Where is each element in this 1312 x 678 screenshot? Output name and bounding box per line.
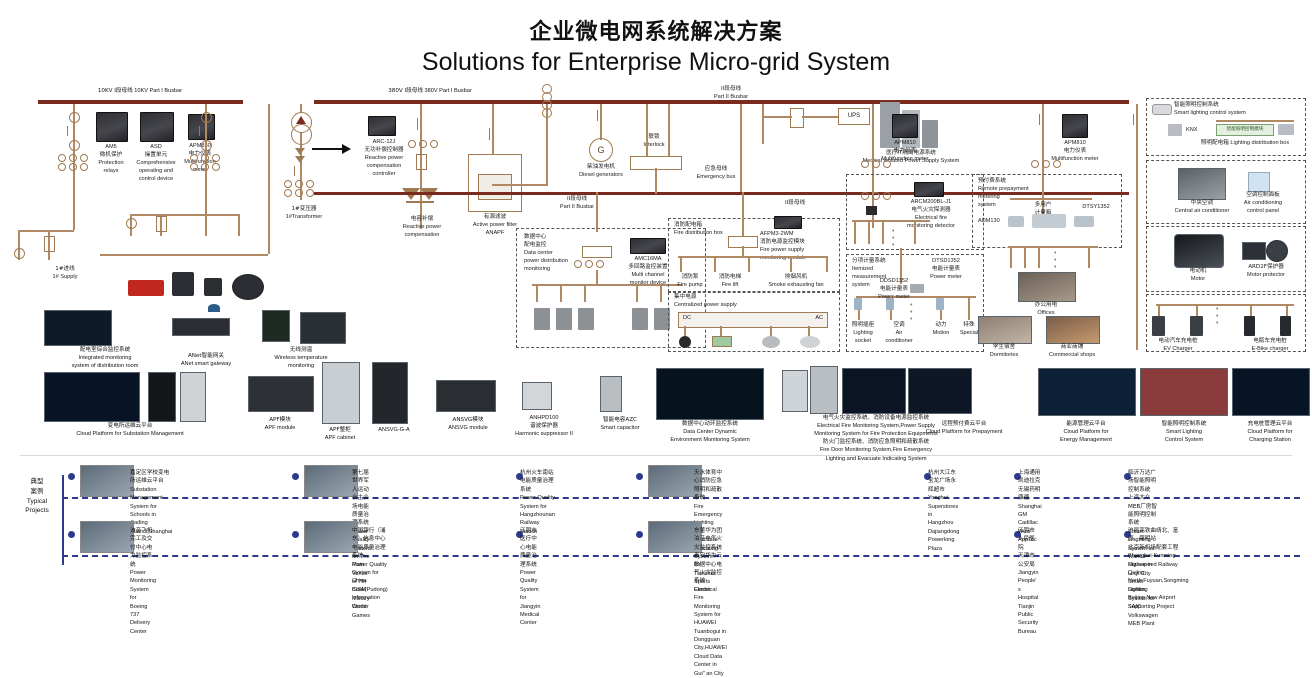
project-name-cn: 北京新机场配套工程	[1128, 544, 1189, 552]
device-apm810-right: APM810 电力仪表 Multifunction meter	[1050, 114, 1100, 164]
breaker-symbol	[1039, 114, 1049, 125]
ct-sensor-photo	[172, 272, 194, 296]
project-name-cn: 中国银行（浦东）信息中心电能质量治理系统	[352, 527, 388, 561]
dtsy1352-label: DTSY1352	[1076, 204, 1116, 212]
hv-leg	[205, 214, 207, 236]
wireless-sensor-photo	[204, 278, 222, 296]
part2-busbar-label-c: II段母线	[770, 200, 820, 208]
timeline-stem	[62, 475, 64, 565]
product-photo-prepay-screen	[908, 368, 972, 414]
project-name-en: Shanghai GM Cadillac	[1018, 503, 1042, 528]
project-name-en: Electrical Fire Monitoring System for HU…	[694, 586, 727, 636]
ac-panel-label: 空调控制面板 Air conditioningcontrol panel	[1236, 192, 1290, 216]
project-name-en: Powerlong Plaza	[928, 536, 959, 553]
project-thumbnail	[304, 521, 358, 553]
timeline-row-2	[62, 555, 1300, 557]
project-text: 东莞华为团泊洼电气火灾监控系统贵安华为云数据中心电气火灾监控系统Electric…	[694, 527, 727, 678]
project-thumbnail	[80, 521, 134, 553]
lighting-control-module: 智能照明控制模块	[1216, 124, 1274, 136]
project-text: 江阴市医疗中心电能质量治理系统Power Quality System forJ…	[520, 527, 541, 628]
project-name-en: Tianjin Public Security Bureau	[1018, 603, 1039, 637]
lighting-box-label: 照明配电箱 Lighting distribution box	[1190, 140, 1300, 148]
breaker-symbol	[489, 128, 499, 140]
project-text: 江阴市人民医院天津市公安局Jiangyin People' s Hospital…	[1018, 527, 1039, 636]
project-name-cn: 天水体育中心消防应急照明和疏散系统	[694, 469, 722, 503]
page-title: 企业微电网系统解决方案 Solutions for Enterprise Mic…	[0, 14, 1312, 77]
product-photo-smart-lighting	[1140, 368, 1228, 416]
breaker-symbol	[597, 110, 607, 121]
project-name-en: Beijing New Airport Supporting Project	[1128, 594, 1189, 611]
timeline-dot	[68, 473, 75, 480]
project-name-cn: 第七届世界军人运动会主会场电能质量治理系统	[352, 469, 371, 528]
timeline-dot	[636, 473, 643, 480]
product-photo-ansvg-cabinet	[372, 362, 408, 424]
ct-symbol	[69, 112, 80, 123]
ups-wire	[802, 116, 838, 118]
interlock-wire-left	[646, 104, 648, 156]
product-photo-harmonic-suppressor	[522, 382, 552, 410]
project-name-en: Jiangyin People' s Hospital	[1018, 569, 1039, 603]
lv-busbar-label: 380V I段母线 380V Part I Busbar	[330, 88, 530, 96]
generator-symbol: G	[589, 138, 613, 162]
project-name-en: Substation Management System for	[130, 486, 172, 511]
product-caption-12: 远程预付费云平台 Cloud Platform for Prepayment	[898, 420, 1030, 436]
ct-symbol	[201, 140, 212, 151]
lighting-gateway-icon	[1278, 124, 1294, 135]
section-divider	[20, 455, 1292, 456]
hv-leg	[238, 214, 240, 236]
part2-busbar-label-a: II段母线Part II Busbar	[700, 86, 762, 102]
ct-symbol	[201, 112, 212, 123]
part2-wire	[762, 116, 792, 118]
product-strip: 配电室综合监控系统 Integrated monitoring system o…	[0, 300, 1312, 455]
project-name-en: Shanghai-Kunming High-speed Railway Quji…	[1128, 552, 1189, 577]
project-name-cn: 上海通用凯迪拉克	[1018, 469, 1042, 486]
supply-label: 1#进线1# Supply	[30, 266, 100, 282]
product-caption-13: 能源管理云平台 Cloud Platform for Energy Manage…	[1034, 420, 1138, 444]
motor-protector-label: ARD2F保护器Motor protector	[1234, 264, 1298, 280]
project-name-en: Yonghui Superstores in	[928, 494, 959, 519]
breaker-symbol	[869, 114, 879, 125]
central-ac-photo	[1178, 168, 1226, 200]
detector-symbol	[866, 206, 877, 215]
pt-symbol	[14, 248, 25, 259]
interlock-wire-right	[668, 104, 670, 156]
product-photo-smart-capacitor	[600, 376, 622, 412]
timeline-dot	[292, 531, 299, 538]
product-photo-temp-display	[300, 312, 346, 344]
offices-photo	[1018, 272, 1076, 302]
part2-switch	[790, 108, 804, 128]
hv-tie-wire-h	[100, 254, 268, 256]
hv-busbar-label: 10KV I段母线 10KV Part I Busbar	[40, 88, 240, 96]
apf-inverter	[478, 174, 512, 200]
project-text: 波音飞机完工及交付中心电力监控系统Power Monitoring System…	[130, 527, 156, 636]
knx-module-icon	[1168, 124, 1182, 136]
title-english: Solutions for Enterprise Micro-grid Syst…	[0, 48, 1312, 77]
product-photo-temp-sensor	[262, 310, 290, 342]
project-name-cn: 江阴市医疗中心电能质量治理系统	[520, 527, 541, 569]
project-name-en: Dongguan City,HUAWEI Cloud Data Center i…	[694, 636, 727, 678]
project-name-cn: 东莞华为团泊洼电气火灾监控系统	[694, 527, 727, 552]
fire-load-lift: 消防电梯Fire lift	[710, 274, 750, 290]
fuse-symbol	[156, 216, 167, 232]
product-photo-fire-screen	[842, 368, 906, 414]
datacenter-switch	[582, 246, 612, 258]
project-name-cn: 杭州火车南站电能质量治理系统	[520, 469, 555, 494]
project-name-cn: 沪昆高铁曲靖北、富源、嵩明站	[1128, 527, 1189, 544]
project-name-cn: 贵安华为云数据中心电气火灾监控系统	[694, 552, 727, 586]
product-photo-cloud-substation	[44, 372, 140, 422]
project-name-cn: 嘉定区学校变电所运维云平台	[130, 469, 172, 486]
adm130-label: ADM130	[978, 218, 1008, 226]
project-thumbnail	[80, 465, 134, 497]
device-asd: ASD 操置单元 Comprehensive operating andcont…	[140, 112, 178, 184]
ct-ring-sensor-photo	[232, 274, 264, 300]
emergency-bus-label: 应急母线Emergency bus	[686, 166, 746, 182]
typical-projects-label: 典型 案例 Typical Projects	[14, 477, 60, 516]
device-arc12j: ARC-12J 无功补偿控制器 Reactive power compensat…	[360, 116, 408, 179]
project-name-en: Jiangyin Medical Center	[520, 603, 541, 628]
project-text: 中国银行（浦东）信息中心电能质量治理系统Power Quality System…	[352, 527, 388, 611]
project-name-cn: 无锡药明康德	[1018, 486, 1042, 503]
product-photo-fire-host-b	[810, 366, 838, 414]
product-photo-apf-cabinet	[322, 362, 360, 424]
timeline-dot	[636, 531, 643, 538]
device-ddsd1352-label: DDSD1352 电能计量表Power meter	[866, 278, 922, 302]
prepay-bus	[1010, 198, 1092, 200]
project-name-en: Power Quality System for	[520, 494, 555, 511]
lighting-bus	[1216, 120, 1294, 122]
efm-bus	[852, 220, 930, 222]
hv-bus-2	[130, 214, 240, 216]
fuse-symbol	[416, 154, 427, 170]
fire-riser	[742, 192, 744, 236]
timeline-dot	[292, 473, 299, 480]
project-name-cn: 江阴市人民医院	[1018, 527, 1039, 552]
project-text: 沪昆高铁曲靖北、富源、嵩明站北京新机场配套工程Shanghai-Kunming …	[1128, 527, 1189, 611]
product-caption-14: 智能照明控制系统 Smart Lighting Control System	[1138, 420, 1230, 444]
ac-panel-photo	[1248, 172, 1270, 192]
product-photo-ansvg-module	[436, 380, 496, 412]
project-name-en: Power Quality System for	[352, 561, 388, 578]
motor-protector-photo	[1242, 242, 1266, 260]
smart-lighting-label: 智能照明控制系统Smart lighting control system	[1174, 102, 1294, 118]
medical-riser	[762, 104, 764, 144]
transformer-label: 1#变压器1#Transformer	[268, 206, 340, 222]
reactive-compensation-label: 电容补偿 Reactive powercompensation	[386, 216, 458, 240]
project-name-en: Power Quality System for	[520, 569, 541, 603]
product-photo-fire-host-a	[782, 370, 808, 412]
fire-bus	[678, 256, 828, 258]
part2-busbar-label-b: II段母线Part II Busbar	[548, 196, 606, 212]
switch-symbol	[294, 166, 307, 176]
motor-label: 电动机Motor	[1174, 268, 1222, 284]
switch-symbol	[199, 126, 212, 136]
product-caption-7: ANSVG模块 ANSVG module	[430, 416, 506, 432]
ups-box: UPS	[838, 108, 870, 125]
title-chinese: 企业微电网系统解决方案	[0, 14, 1312, 46]
product-photo-apf-module	[248, 376, 314, 412]
central-ac-label: 中央空调Central air conditioner	[1166, 200, 1238, 216]
product-caption-3: 变电所运维云平台 Cloud Platform for Substation M…	[34, 422, 226, 438]
product-photo-anet-gateway	[172, 318, 230, 336]
delta-symbol	[296, 116, 306, 124]
diesel-generator-label: 柴油发电机Diesel generators	[568, 164, 634, 180]
device-apm810-left: APM810 电力仪表 Multifunction meter	[880, 114, 930, 164]
emergency-drop	[655, 168, 657, 194]
ct-symbol	[69, 140, 80, 151]
lighting-controller-icon	[1152, 104, 1172, 115]
product-caption-10: 数据中心动环监控系统 Data Center Dynamic Environme…	[646, 420, 774, 444]
typical-projects-section: 典型 案例 Typical Projects 嘉定区学校变电所运维云平台Subs…	[0, 455, 1312, 584]
datacenter-drop	[596, 270, 598, 284]
product-caption-8: ANHPD100 谐波保护器 Harmonic suppressor II	[500, 414, 588, 438]
product-photo-cabinet-a	[148, 372, 176, 422]
knx-label: KNX	[1186, 127, 1206, 135]
product-caption-15: 充电桩管理云平台 Cloud Platform for Charging Sta…	[1228, 420, 1312, 444]
project-name-cn: 天津市公安局	[1018, 552, 1039, 569]
breaker-symbol	[417, 118, 427, 130]
product-photo-distribution-room	[44, 310, 112, 346]
product-photo-energy-cloud	[1038, 368, 1136, 416]
device-dtsd1352: DTSD1352 电能计量表Power meter	[918, 258, 974, 282]
timeline-dot	[68, 531, 75, 538]
timeline-row-1	[62, 497, 1300, 499]
fire-box-label: 消防配电箱Fire distribution box	[674, 222, 736, 238]
interlock-label: 联锁Interlock	[630, 134, 678, 150]
hv-tie-wire	[268, 104, 270, 254]
fire-load-smoke: 排烟风机Smoke exhausting fan	[760, 274, 832, 290]
pt-symbol	[126, 218, 137, 229]
hv-feeder-branch	[18, 230, 74, 232]
project-name-cn: 波音飞机完工及交付中心电力监控系统	[130, 527, 156, 569]
product-caption-6: ANSVG-G-A	[358, 426, 430, 434]
ct-ring-photo	[1266, 240, 1288, 262]
product-photo-datacenter-dynamic	[656, 368, 764, 420]
breaker-symbol	[1133, 114, 1143, 125]
motor-photo	[1174, 234, 1224, 268]
project-name-cn: 杭州大江东宝龙广场永辉超市	[928, 469, 959, 494]
project-thumbnail	[304, 465, 358, 497]
device-arcm200bl: ARCM200BL-J1 电气火灾探测器 Electrical firemoni…	[900, 182, 962, 231]
project-name-en: Boeing 737 Delivery Center	[130, 603, 156, 637]
transformer-winding-bottom	[291, 124, 312, 145]
project-name-en: North,Fuyuan,Songming Station	[1128, 577, 1189, 594]
product-photo-charging-cloud	[1232, 368, 1310, 416]
hv-busbar	[38, 100, 243, 104]
fire-load-pump: 消防泵Fire pump	[672, 274, 708, 290]
medical-riser-2	[740, 104, 742, 192]
prepay-outgoing	[1008, 246, 1098, 248]
project-name-en: Power Monitoring System for	[130, 569, 156, 603]
project-name-en: China Bank(Pudong) Information Center	[352, 577, 388, 611]
fire-drop	[742, 246, 744, 256]
apf-tie	[492, 184, 548, 186]
project-text: 杭州大江东宝龙广场永辉超市Yonghui Superstores inHangz…	[928, 469, 959, 553]
fuse-symbol	[44, 236, 55, 252]
switch-symbol	[67, 126, 80, 136]
project-name-cn: 临沂万达广场智能照明控制系统	[1128, 469, 1158, 494]
clamp-meter-photo	[128, 280, 164, 296]
project-name-en: Hangzhou Dajiangdong	[928, 519, 959, 536]
project-name-cn: 上汽大众MEB厂房智能照明控制系统	[1128, 494, 1158, 528]
product-photo-cabinet-b	[180, 372, 206, 422]
device-am5: AM5 微机保护 Protectionrelays	[96, 112, 130, 176]
product-caption-1: ANet智能网关 ANet smart gateway	[160, 352, 252, 368]
